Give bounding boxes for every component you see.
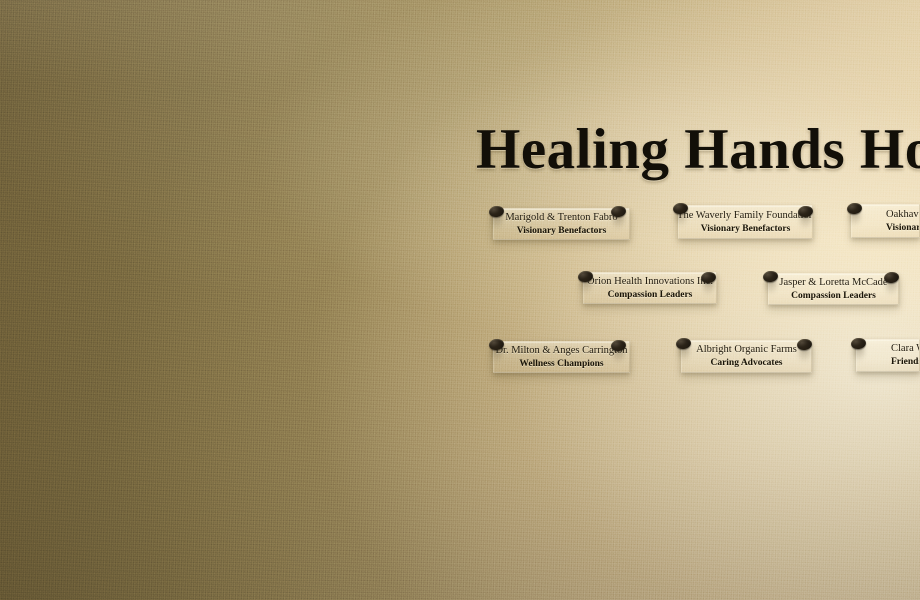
- plaque-donor-name: Albright Organic Farms: [696, 344, 797, 356]
- board-title: Healing Hands Hon: [476, 117, 920, 182]
- plaque-donor-name: Oakhav: [886, 209, 919, 221]
- plaque-donor-tier: Friends of: [891, 357, 920, 368]
- donor-plaque: Albright Organic FarmsCaring Advocates: [681, 340, 812, 373]
- donor-plaque: Orion Health Innovations Inc.Compassion …: [583, 272, 717, 304]
- donor-plaque: Jasper & Loretta McCadeCompassion Leader…: [768, 273, 899, 305]
- donor-plaque: The Waverly Family FoundationVisionary B…: [678, 205, 813, 239]
- plaque-donor-name: Orion Health Innovations Inc.: [587, 276, 713, 288]
- plaque-donor-tier: Visionary Benefactors: [701, 224, 791, 235]
- plaque-donor-tier: Wellness Champions: [519, 359, 603, 370]
- plaque-donor-name: Dr. Milton & Anges Carrington: [495, 345, 627, 357]
- plaque-donor-name: Clara W: [891, 343, 920, 355]
- plaque-donor-tier: Compassion Leaders: [791, 291, 876, 302]
- plaque-donor-tier: Visionary Benefactors: [517, 226, 607, 237]
- donor-wall-board: Healing Hands Hon Marigold & Trenton Fab…: [0, 0, 920, 600]
- donor-plaque: Marigold & Trenton FabroVisionary Benefa…: [493, 208, 630, 240]
- plaque-donor-tier: Visionary B: [886, 223, 920, 234]
- plaque-donor-name: Jasper & Loretta McCade: [779, 277, 887, 289]
- plaque-donor-tier: Caring Advocates: [710, 358, 782, 369]
- plaque-donor-name: The Waverly Family Foundation: [678, 210, 813, 222]
- plaque-donor-tier: Compassion Leaders: [608, 290, 693, 301]
- plaque-donor-name: Marigold & Trenton Fabro: [505, 212, 617, 224]
- donor-plaque: Dr. Milton & Anges CarringtonWellness Ch…: [493, 341, 630, 373]
